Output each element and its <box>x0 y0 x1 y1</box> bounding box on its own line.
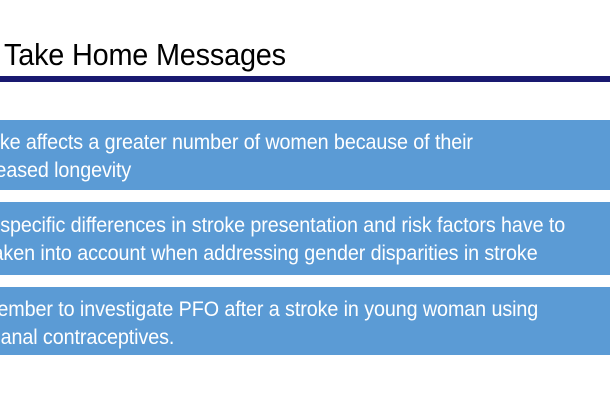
message-box-2: Sex-specific differences in stroke prese… <box>0 202 610 275</box>
slide-title-block: Take Home Messages <box>0 34 610 76</box>
message-text-3: Remember to investigate PFO after a stro… <box>0 296 610 352</box>
message-text-1: Stroke affects a greater number of women… <box>0 129 610 185</box>
page-title: Take Home Messages <box>4 34 286 76</box>
slide-canvas: Take Home Messages Stroke affects a grea… <box>0 0 610 400</box>
message-box-3: Remember to investigate PFO after a stro… <box>0 287 610 355</box>
title-divider-rule <box>0 76 610 82</box>
message-text-2: Sex-specific differences in stroke prese… <box>0 212 610 268</box>
message-box-1: Stroke affects a greater number of women… <box>0 120 610 190</box>
